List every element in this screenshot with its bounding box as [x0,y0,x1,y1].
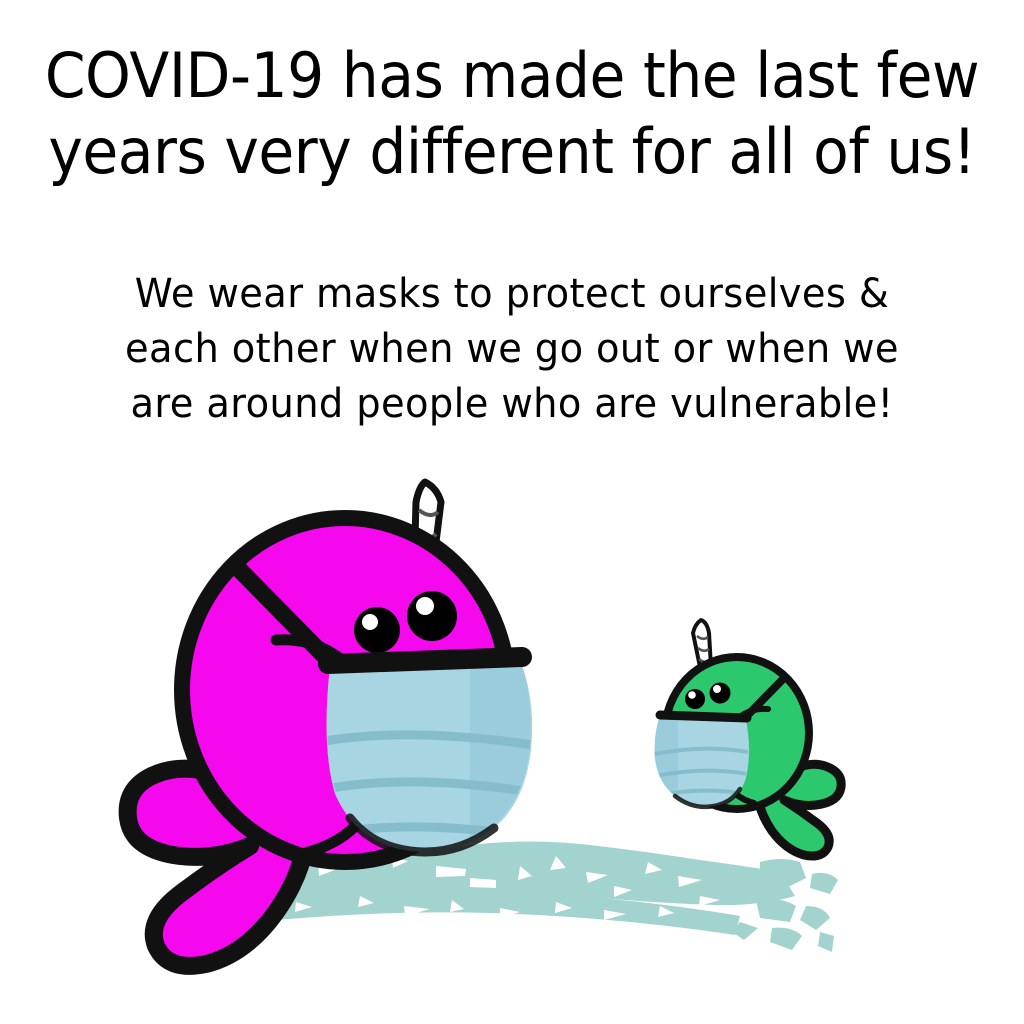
small-green-narwhal [645,620,841,856]
narwhal-illustration [0,0,1024,1024]
poster-canvas: COVID-19 has made the last few years ver… [0,0,1024,1024]
